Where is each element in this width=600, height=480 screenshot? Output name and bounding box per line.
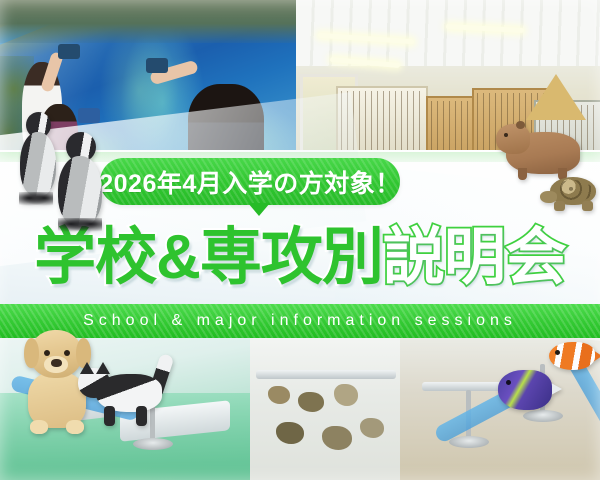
dog-paw	[30, 420, 48, 434]
ceiling-lamp	[330, 57, 400, 68]
sponge	[146, 58, 168, 73]
ceiling-lamp	[318, 33, 414, 45]
cat-leg	[136, 406, 147, 426]
capybara-cutout	[496, 118, 584, 180]
table-base	[449, 436, 489, 448]
capybara-leg	[518, 168, 527, 180]
tortoise-leg	[554, 201, 565, 211]
penguin-feet	[19, 192, 53, 207]
capybara-head	[496, 124, 530, 154]
blue-fish-body	[498, 370, 552, 410]
sponge	[58, 44, 80, 59]
headline-solid-part: 学校&専攻別	[34, 227, 383, 289]
photo-specimen-lab	[250, 330, 400, 480]
capybara-ear	[516, 121, 525, 129]
speech-bubble: 2026年4月入学の方対象！	[100, 158, 400, 205]
clownfish-eye	[555, 350, 560, 355]
climbing-frame	[526, 74, 586, 120]
speech-bubble-label: 2026年4月入学の方対象！	[99, 164, 401, 200]
specimen	[360, 418, 384, 438]
dog-eye	[64, 350, 70, 356]
headline-hollow-part: 説明会	[383, 227, 566, 289]
blue-ribbon-decor	[181, 0, 296, 34]
penguin-body	[58, 156, 102, 226]
speech-bubble-tail	[248, 203, 270, 216]
penguin-feet	[58, 218, 102, 233]
dog-ear	[24, 338, 39, 368]
lab-bench	[256, 370, 396, 379]
penguin-body	[20, 132, 56, 196]
capybara-eye	[504, 133, 508, 137]
table-base	[133, 438, 173, 450]
specimen	[298, 392, 324, 412]
subtitle-label: School & major information sessions	[83, 312, 517, 330]
specimen	[276, 422, 304, 444]
specimen	[322, 426, 352, 450]
dog-nose	[51, 359, 62, 367]
specimen	[268, 386, 290, 404]
ceiling-lamp	[446, 24, 524, 33]
target-audience-callout: 2026年4月入学の方対象！	[100, 158, 400, 205]
event-banner: 2026年4月入学の方対象！ 学校&専攻別 説明会 School & major…	[0, 0, 600, 480]
cat-leg	[104, 406, 115, 426]
penguin-pair-cutout	[14, 112, 122, 230]
tortoise-leg	[582, 201, 593, 211]
tropical-blue-fish-cutout	[496, 366, 568, 418]
blue-fish-eye	[506, 380, 511, 385]
tuxedo-cat-cutout	[78, 352, 188, 430]
specimen	[334, 384, 358, 406]
cat-ear	[96, 362, 110, 374]
tortoise-cutout	[540, 175, 600, 213]
cat-ear	[80, 362, 94, 374]
dog-eye	[44, 350, 50, 356]
